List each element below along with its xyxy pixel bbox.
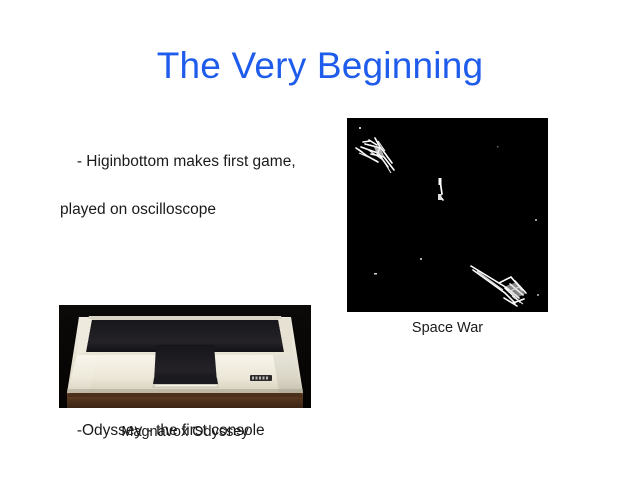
space-war-caption: Space War [347, 320, 548, 336]
magnavox-odyssey-image [59, 305, 311, 408]
page-title: The Very Beginning [0, 44, 640, 88]
magnavox-odyssey-photo [59, 305, 311, 408]
list-item: - Higinbottom makes first game, played o… [51, 126, 351, 270]
bullet-line-2: played on oscilloscope [51, 198, 351, 222]
space-war-image [347, 118, 548, 312]
magnavox-odyssey-caption: Magnavox Odyssey [59, 424, 311, 440]
space-war-canvas [347, 118, 548, 312]
slide: The Very Beginning - Higinbottom makes f… [0, 0, 640, 479]
bullet-line-1: - Higinbottom makes first game, [77, 153, 296, 170]
